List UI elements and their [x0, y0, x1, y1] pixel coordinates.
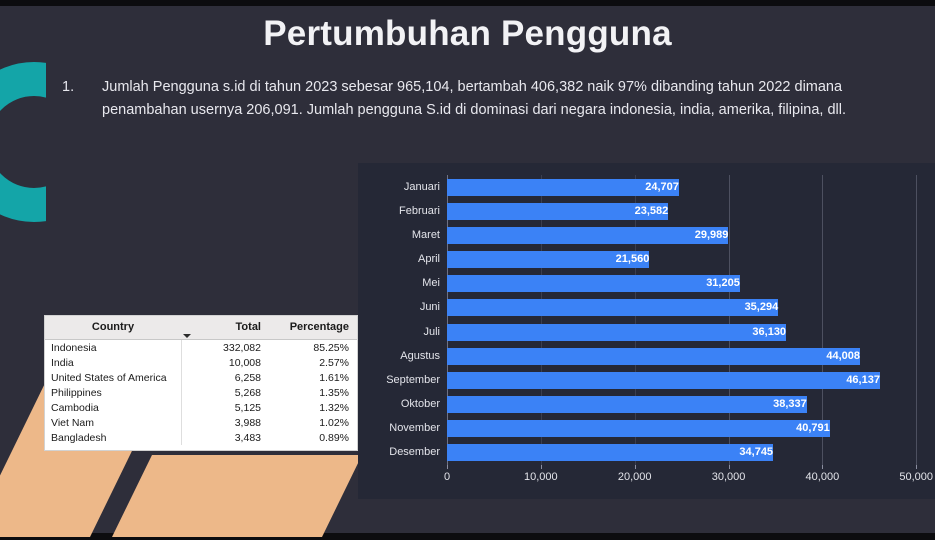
table-header-total[interactable]: Total — [181, 316, 267, 340]
bar-value-label: 23,582 — [447, 203, 673, 220]
teal-half-donut-decoration — [0, 62, 46, 222]
bar-value-label: 44,008 — [447, 348, 865, 365]
category-label: September — [386, 372, 440, 389]
bar-chart-row: Januari24,707 — [447, 179, 935, 196]
bullet-number: 1. — [62, 76, 92, 121]
x-axis-tick-label: 30,000 — [712, 471, 746, 483]
table-cell-percentage: 0.89% — [267, 430, 357, 445]
bar-chart-plot-area: 010,00020,00030,00040,00050,000Januari24… — [447, 175, 935, 465]
category-label: Agustus — [400, 348, 440, 365]
category-label: Juni — [420, 299, 440, 316]
table-cell-country: Cambodia — [45, 400, 181, 415]
table-cell-country: India — [45, 355, 181, 370]
x-axis-tick-label: 50,000 — [899, 471, 933, 483]
table-header-country[interactable]: Country — [45, 316, 181, 340]
table-cell-total: 3,483 — [181, 430, 267, 445]
table-cell-total: 10,008 — [181, 355, 267, 370]
category-label: April — [418, 251, 440, 268]
table-row[interactable]: Philippines5,2681.35% — [45, 385, 357, 400]
bar-chart-row: Oktober38,337 — [447, 396, 935, 413]
table-cell-country: Philippines — [45, 385, 181, 400]
table-cell-total: 6,258 — [181, 370, 267, 385]
bar-chart-row: April21,560 — [447, 251, 935, 268]
table-cell-percentage: 1.61% — [267, 370, 357, 385]
bar-value-label: 24,707 — [447, 179, 684, 196]
bullet-text: Jumlah Pengguna s.id di tahun 2023 sebes… — [102, 76, 882, 121]
category-label: Oktober — [401, 396, 440, 413]
top-letterbox-band — [0, 0, 935, 6]
bar-value-label: 46,137 — [447, 372, 885, 389]
table-header-total-label: Total — [236, 321, 261, 333]
category-label: Mei — [422, 275, 440, 292]
slide-canvas: Pertumbuhan Pengguna 1. Jumlah Pengguna … — [0, 0, 935, 540]
bar-chart-row: Maret29,989 — [447, 227, 935, 244]
table-cell-total: 3,988 — [181, 415, 267, 430]
x-tick-mark — [447, 465, 448, 469]
table-cell-country: Bangladesh — [45, 430, 181, 445]
x-axis-tick-label: 10,000 — [524, 471, 558, 483]
category-label: Maret — [412, 227, 440, 244]
category-label: Juli — [423, 324, 440, 341]
table-row[interactable]: Indonesia332,08285.25% — [45, 340, 357, 356]
bar-chart-row: Juli36,130 — [447, 324, 935, 341]
table-cell-percentage: 1.35% — [267, 385, 357, 400]
x-tick-mark — [822, 465, 823, 469]
bar-chart-row: Mei31,205 — [447, 275, 935, 292]
table-cell-country: United States of America — [45, 370, 181, 385]
sort-descending-icon — [183, 334, 191, 338]
x-axis-tick-label: 0 — [444, 471, 450, 483]
bar-value-label: 36,130 — [447, 324, 791, 341]
x-axis-tick-label: 20,000 — [618, 471, 652, 483]
category-label: Januari — [404, 179, 440, 196]
bar-chart-row: November40,791 — [447, 420, 935, 437]
bar-value-label: 38,337 — [447, 396, 812, 413]
table-cell-percentage: 1.02% — [267, 415, 357, 430]
table-row[interactable]: United States of America6,2581.61% — [45, 370, 357, 385]
bar-chart-panel: 010,00020,00030,00040,00050,000Januari24… — [358, 163, 935, 499]
bar-value-label: 35,294 — [447, 299, 783, 316]
table-header-row: Country Total Percentage — [45, 316, 357, 340]
bar-chart-row: Agustus44,008 — [447, 348, 935, 365]
table-cell-percentage: 85.25% — [267, 340, 357, 356]
bar-value-label: 34,745 — [447, 444, 778, 461]
bar-chart-row: September46,137 — [447, 372, 935, 389]
bar-value-label: 21,560 — [447, 251, 654, 268]
x-axis-tick-label: 40,000 — [806, 471, 840, 483]
table-cell-total: 332,082 — [181, 340, 267, 356]
table-row[interactable]: Viet Nam3,9881.02% — [45, 415, 357, 430]
x-tick-mark — [635, 465, 636, 469]
category-label: Februari — [399, 203, 440, 220]
table-row[interactable]: Bangladesh3,4830.89% — [45, 430, 357, 445]
x-tick-mark — [916, 465, 917, 469]
table-header-percentage[interactable]: Percentage — [267, 316, 357, 340]
bullet-paragraph: 1. Jumlah Pengguna s.id di tahun 2023 se… — [62, 76, 882, 121]
table-cell-total: 5,268 — [181, 385, 267, 400]
x-tick-mark — [729, 465, 730, 469]
table-row[interactable]: Cambodia5,1251.32% — [45, 400, 357, 415]
bar-value-label: 29,989 — [447, 227, 733, 244]
bar-chart-row: Februari23,582 — [447, 203, 935, 220]
table-cell-total: 5,125 — [181, 400, 267, 415]
table-cell-country: Viet Nam — [45, 415, 181, 430]
category-label: November — [389, 420, 440, 437]
table-cell-percentage: 1.32% — [267, 400, 357, 415]
table-row[interactable]: India10,0082.57% — [45, 355, 357, 370]
category-label: Desember — [389, 444, 440, 461]
table-cell-country: Indonesia — [45, 340, 181, 356]
table-body: Indonesia332,08285.25%India10,0082.57%Un… — [45, 340, 357, 446]
page-title: Pertumbuhan Pengguna — [0, 14, 935, 54]
country-totals-table[interactable]: Country Total Percentage Indonesia332,08… — [45, 316, 357, 450]
bar-value-label: 31,205 — [447, 275, 745, 292]
table-cell-percentage: 2.57% — [267, 355, 357, 370]
bar-chart-row: Desember34,745 — [447, 444, 935, 461]
bar-chart-row: Juni35,294 — [447, 299, 935, 316]
tan-parallelogram-decoration-2 — [112, 455, 362, 537]
x-tick-mark — [541, 465, 542, 469]
bar-value-label: 40,791 — [447, 420, 835, 437]
